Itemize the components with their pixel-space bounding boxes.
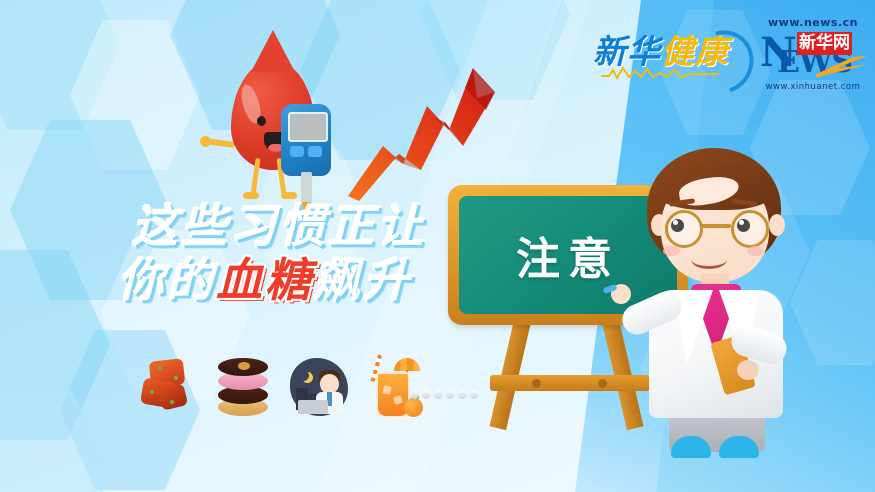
- doctor-hand-right: [737, 360, 759, 380]
- easel-knob: [532, 379, 541, 388]
- heartbeat-icon: [601, 64, 719, 80]
- header-logos: 新华健康 www.news.cn N EWS 新华网 www.xinhuanet…: [587, 14, 867, 94]
- headline-highlight: 血糖: [216, 253, 314, 307]
- headline-suffix: 飙升: [314, 253, 412, 307]
- dot: [422, 390, 431, 399]
- mascot-eye-left: [257, 116, 266, 126]
- donut-hole: [238, 362, 250, 370]
- ice-cube: [393, 395, 403, 405]
- doctor-eye: [671, 219, 684, 232]
- rising-trend-arrow-icon: [345, 58, 505, 203]
- ellipsis-dots: [410, 390, 479, 399]
- habit-icons-row: [136, 356, 426, 422]
- glasses-lens: [731, 210, 769, 248]
- meter-button: [308, 146, 322, 157]
- laptop-icon: [298, 400, 328, 414]
- doctor-cheek: [747, 246, 764, 256]
- doctor-eye: [737, 219, 750, 232]
- doctor-character: [625, 148, 825, 438]
- dot: [470, 390, 479, 399]
- doctor-ear: [769, 214, 785, 236]
- donut-layer: [218, 358, 268, 376]
- dot: [410, 390, 419, 399]
- glasses-lens: [665, 210, 703, 248]
- pork-cube: [158, 383, 189, 411]
- page-title: 这些习惯正让 你的血糖飙升: [118, 203, 426, 303]
- news-cn-box: 新华网: [797, 32, 852, 55]
- headline-line-1: 这些习惯正让: [132, 203, 426, 249]
- person-head: [320, 374, 339, 394]
- garnish-dot: [150, 390, 154, 394]
- doctor-smile: [691, 250, 727, 269]
- glasses-bridge: [700, 224, 731, 228]
- night-backdrop: [290, 358, 348, 416]
- blood-drop-mascot: [213, 52, 343, 202]
- mascot-foot: [281, 192, 297, 199]
- braised-pork-icon: [136, 356, 198, 422]
- headline-line-2: 你的血糖飙升: [118, 257, 426, 303]
- garnish-dot: [170, 400, 174, 404]
- xinhua-health-logo[interactable]: 新华健康: [587, 31, 755, 78]
- meter-button: [290, 146, 304, 157]
- dot: [446, 390, 455, 399]
- donuts-icon: [212, 356, 274, 422]
- dot: [458, 390, 467, 399]
- xinhuanet-logo[interactable]: www.news.cn N EWS 新华网 www.xinhuanet.com: [759, 14, 867, 94]
- sugary-drink-icon: [364, 356, 426, 422]
- mascot-foot: [243, 192, 259, 199]
- garnish-dot: [158, 366, 162, 370]
- news-url-top: www.news.cn: [768, 16, 858, 29]
- orange-fruit-icon: [404, 398, 423, 417]
- dot: [434, 390, 443, 399]
- moon-icon: [298, 370, 309, 381]
- poster-canvas: 新华健康 www.news.cn N EWS 新华网 www.xinhuanet…: [0, 0, 875, 492]
- garnish-dot: [174, 376, 178, 380]
- doctor-cheek: [663, 246, 680, 256]
- news-url-bottom: www.xinhuanet.com: [766, 82, 861, 92]
- late-night-work-icon: [288, 356, 350, 422]
- meter-screen: [288, 112, 328, 142]
- ice-cube: [382, 385, 391, 394]
- headline-prefix: 你的: [118, 253, 216, 307]
- easel-knob: [598, 379, 607, 388]
- glucose-meter-icon: [281, 104, 331, 176]
